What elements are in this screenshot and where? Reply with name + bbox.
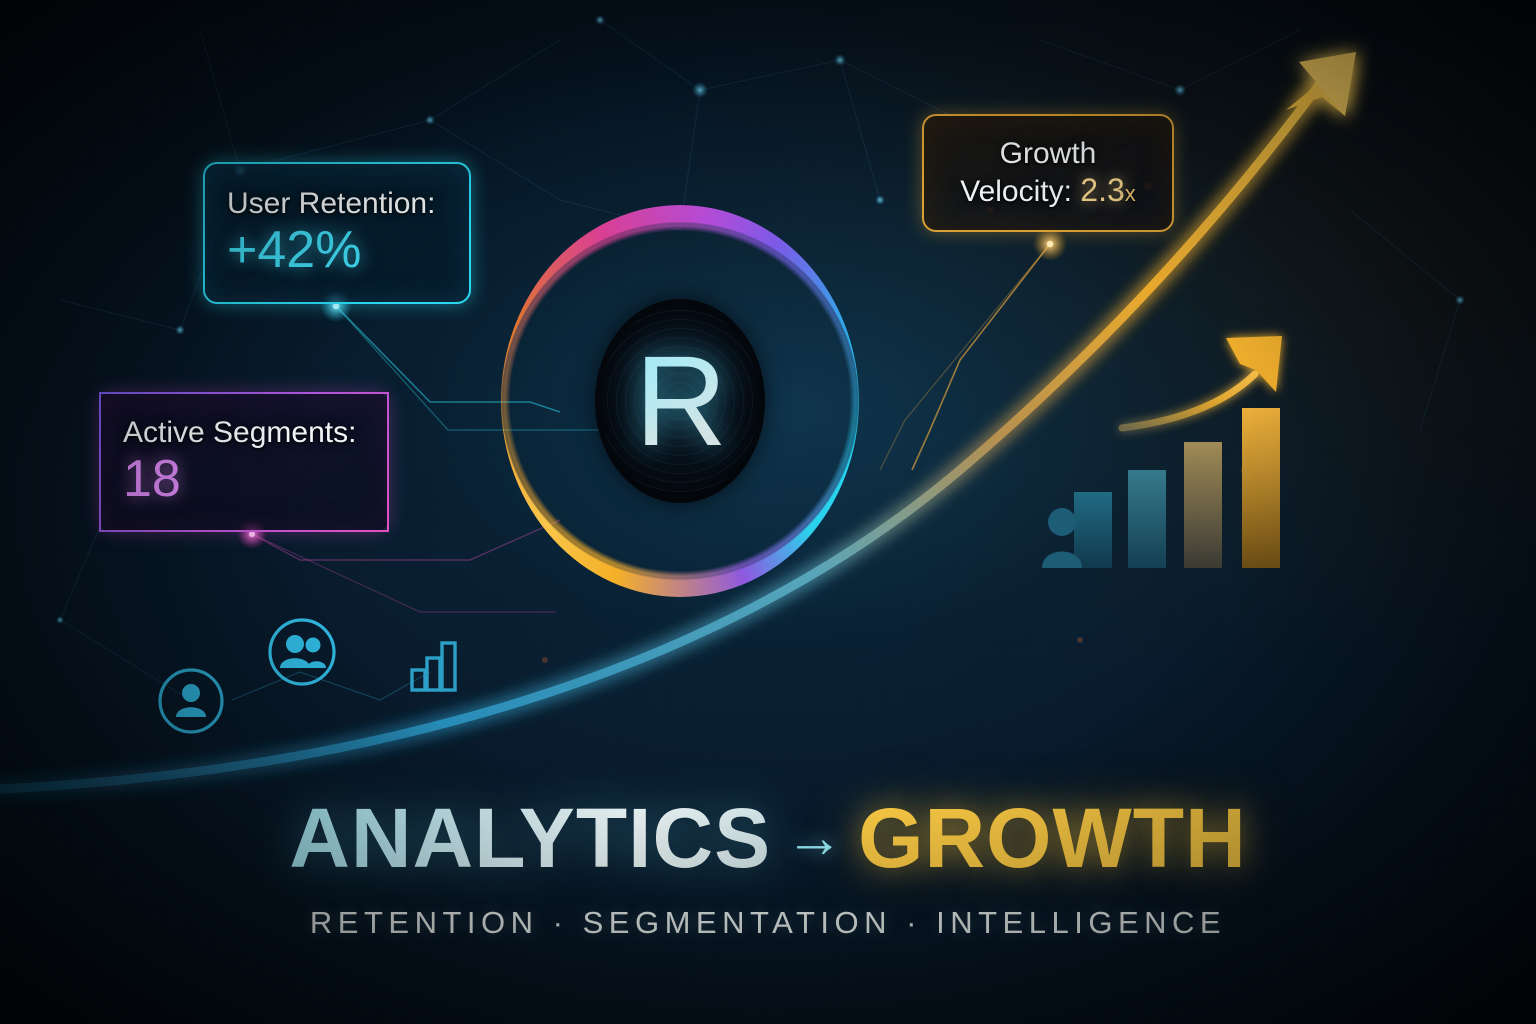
metric-card-growth-velocity[interactable]: Growth Velocity: 2.3x bbox=[922, 114, 1174, 232]
users-group-icon bbox=[262, 612, 342, 692]
growth-arrow-icon bbox=[1286, 52, 1356, 116]
page-title: ANALYTICS→GROWTH bbox=[0, 790, 1536, 887]
logo-letter: R bbox=[595, 299, 765, 503]
segments-value: 18 bbox=[123, 451, 365, 508]
subtitle-separator-2: · bbox=[906, 905, 922, 940]
headline-left: ANALYTICS bbox=[289, 791, 771, 885]
retention-value: +42% bbox=[227, 222, 447, 279]
page-subtitle: RETENTION · SEGMENTATION · INTELLIGENCE bbox=[0, 905, 1536, 941]
user-icon bbox=[153, 663, 229, 739]
retention-label: User Retention: bbox=[227, 187, 447, 222]
arrow-right-icon: → bbox=[771, 805, 858, 870]
metric-card-user-retention[interactable]: User Retention: +42% bbox=[203, 162, 471, 304]
brand-logo-ring: R bbox=[497, 201, 863, 601]
velocity-label-line2: Velocity: bbox=[960, 175, 1072, 208]
velocity-value-row: Velocity: 2.3x bbox=[960, 172, 1136, 209]
headline-right: GROWTH bbox=[858, 791, 1247, 885]
subtitle-separator-1: · bbox=[553, 905, 569, 940]
subtitle-item-2: SEGMENTATION bbox=[583, 905, 892, 940]
velocity-label: Growth bbox=[1000, 137, 1097, 172]
bar-chart-motif bbox=[1050, 330, 1370, 580]
subtitle-item-1: RETENTION bbox=[310, 905, 539, 940]
metric-card-active-segments[interactable]: Active Segments: 18 bbox=[99, 392, 389, 532]
segments-label: Active Segments: bbox=[123, 416, 365, 451]
bar-chart-icon bbox=[408, 638, 464, 694]
velocity-value-suffix: x bbox=[1125, 181, 1136, 206]
subtitle-item-3: INTELLIGENCE bbox=[936, 905, 1226, 940]
velocity-value: 2.3 bbox=[1080, 172, 1124, 208]
poster-canvas: R User Retention: +42% Active Segments: … bbox=[0, 0, 1536, 1024]
bar-chart-bars bbox=[1074, 408, 1280, 568]
